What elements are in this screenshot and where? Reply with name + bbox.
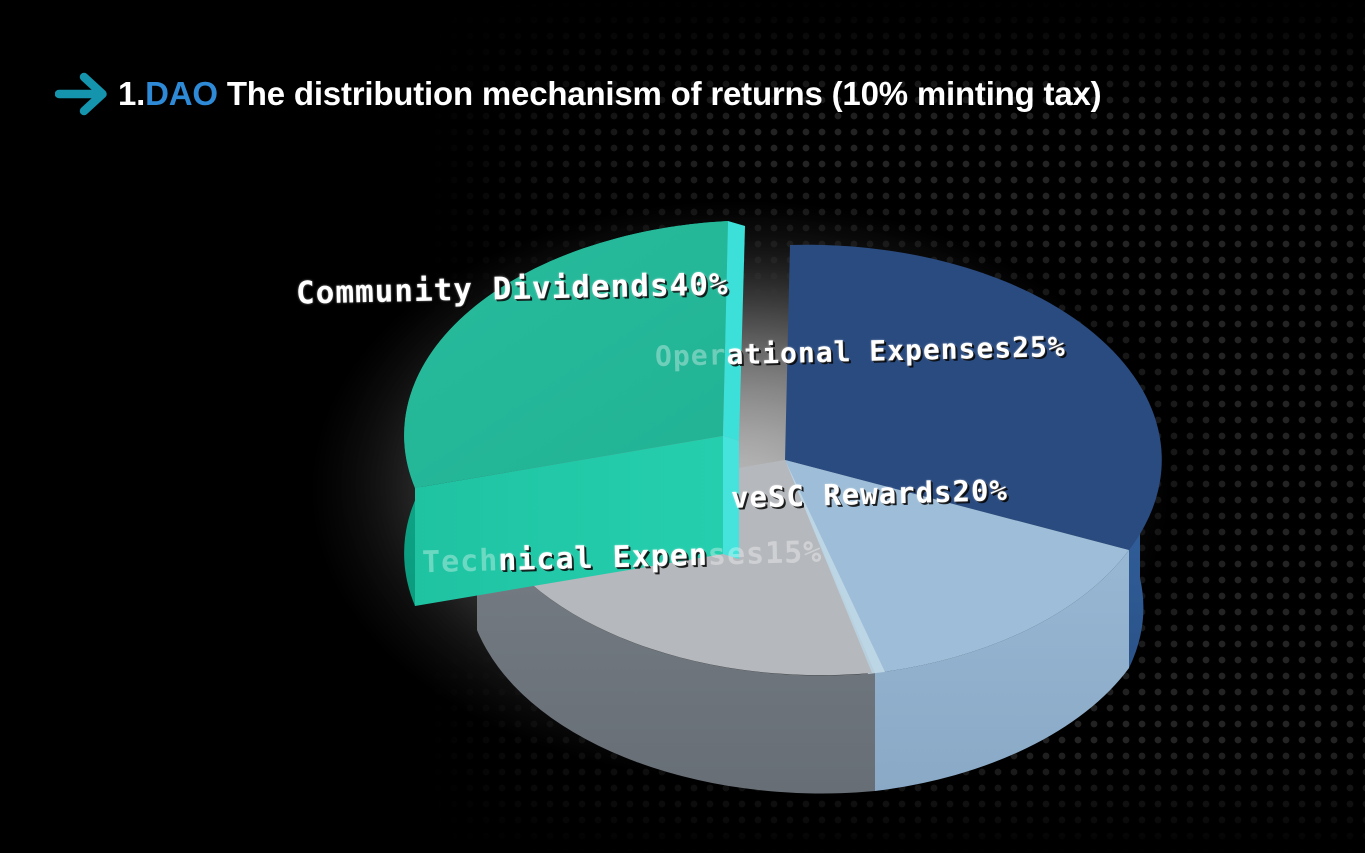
pie-label-technical-faded-end: ses15% [707,535,822,573]
slide-header: 1.DAO The distribution mechanism of retu… [0,0,1365,150]
page-title-accent: DAO [145,75,218,112]
arrow-right-icon [55,68,111,120]
slide-canvas: 1.DAO The distribution mechanism of retu… [0,0,1365,853]
pie-label-technical-faded-start: Tech [422,543,499,580]
pie-label-technical-solid: nical Expen [498,538,709,578]
page-title: 1.DAO The distribution mechanism of retu… [118,70,1101,118]
page-title-index: 1. [118,75,145,112]
page-title-rest: The distribution mechanism of returns (1… [218,75,1102,112]
pie-label-operational-faded: Oper [655,338,727,373]
